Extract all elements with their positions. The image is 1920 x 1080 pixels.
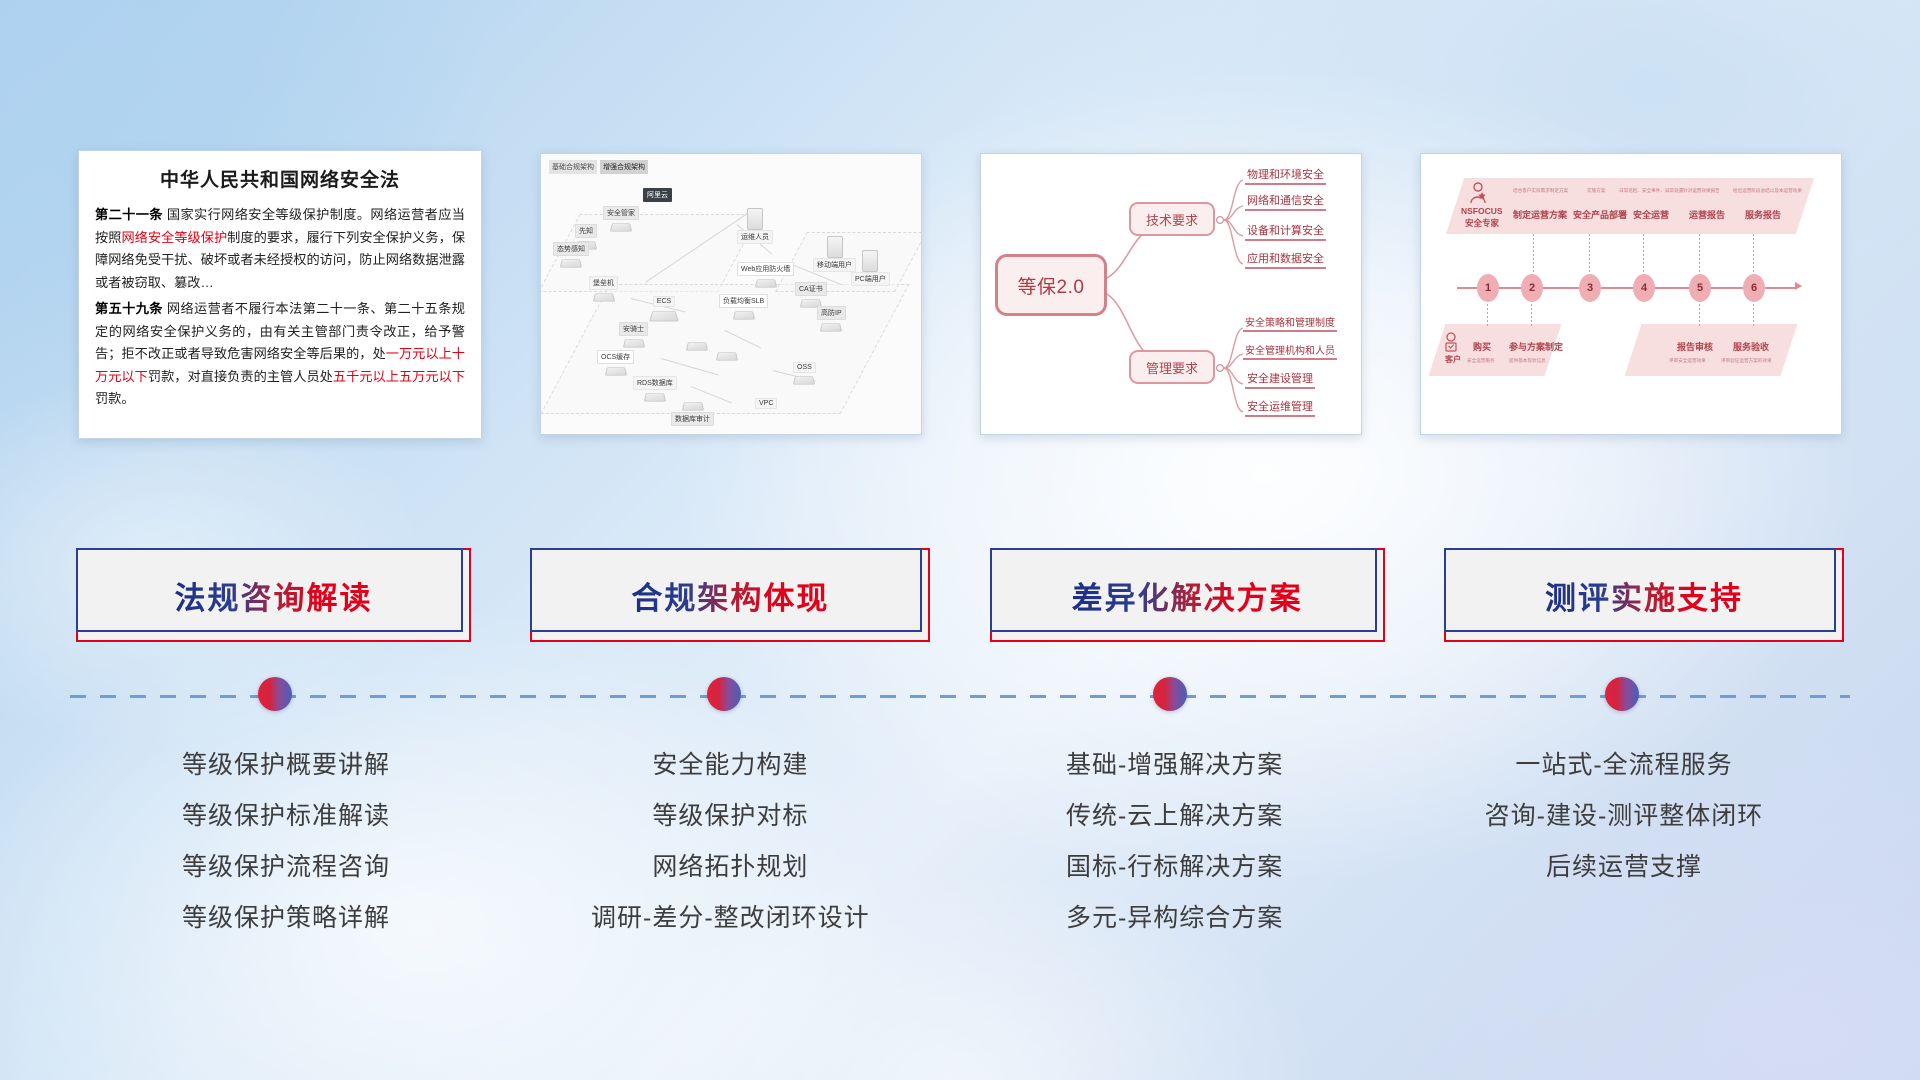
- arch-node-oss-label: OSS: [793, 362, 816, 373]
- process-node-5: 5: [1689, 274, 1711, 302]
- cube-icon: [592, 293, 614, 301]
- arch-node-shishiganzhi-label: 态势感知: [553, 242, 589, 256]
- detail-list-column-4: 一站式-全流程服务 咨询-建设-测评整体闭环 后续运营支撑: [1404, 740, 1844, 944]
- headline-label-4: 测评实施支持: [1545, 573, 1743, 618]
- list-item: 咨询-建设-测评整体闭环: [1404, 791, 1844, 842]
- arch-node-ecs-scaling-2: [717, 350, 737, 362]
- arch-node-rds: RDS数据库: [633, 376, 677, 403]
- process-tick-c4: [1753, 304, 1754, 328]
- process-customer-sub-4: 评审验证运营方案的效果: [1721, 358, 1772, 364]
- arch-node-cloud: 阿里云: [643, 188, 672, 203]
- list-item: 多元-异构综合方案: [965, 893, 1385, 944]
- process-tick-4: [1643, 234, 1644, 272]
- cube-icon: [649, 311, 679, 322]
- card-mindmap: 等保2.0 技术要求 管理要求 物理和环境安全 网络和通信安全 设备和计算安全 …: [980, 153, 1362, 435]
- detail-list-column-3: 基础-增强解决方案 传统-云上解决方案 国标-行标解决方案 多元-异构综合方案: [965, 740, 1385, 944]
- cube-icon: [681, 402, 703, 410]
- process-tick-2: [1533, 234, 1534, 272]
- arch-node-xianzhi-label: 先知: [575, 224, 597, 238]
- architecture-tabs: 基础合规架构 增强合规架构: [549, 160, 648, 174]
- list-item: 等级保护流程咨询: [76, 842, 496, 893]
- mindmap-leaf-tech-3: 设备和计算安全: [1245, 222, 1326, 241]
- arch-node-vpc-label: VPC: [755, 398, 777, 409]
- process-tick-5: [1699, 234, 1700, 272]
- process-customer-title-4: 服务验收: [1733, 340, 1769, 353]
- arch-node-ca: CA证书: [795, 282, 827, 309]
- headline-box-1[interactable]: 法规咨询解读: [76, 548, 471, 642]
- headline-row: 法规咨询解读 合规架构体现 差异化解决方案 测评实施支持: [76, 548, 1844, 644]
- timeline-dashed-line: [70, 695, 1850, 698]
- mindmap-branch-management: 管理要求: [1129, 350, 1215, 384]
- person-expert-icon: [1469, 182, 1487, 204]
- arch-node-waf: Web应用防火墙: [737, 262, 794, 289]
- process-tick-c3: [1699, 304, 1700, 328]
- card-process-timeline: NSFOCUS 安全专家 结合客户实际需求制定方案 制定运营方案 实施方案 安全…: [1420, 153, 1842, 435]
- infographic-page: 中华人民共和国网络安全法 第二十一条 国家实行网络安全等级保护制度。网络运营者应…: [0, 0, 1920, 1080]
- process-sub-5: 针对运营效果报告: [1683, 188, 1720, 194]
- law-content: 中华人民共和国网络安全法 第二十一条 国家实行网络安全等级保护制度。网络运营者应…: [79, 151, 481, 425]
- cube-icon: [604, 367, 626, 375]
- process-customer-title-1: 购买: [1473, 340, 1491, 353]
- timeline-dot-4[interactable]: [1605, 677, 1639, 711]
- process-tick-6: [1753, 234, 1754, 272]
- cube-icon: [754, 279, 776, 287]
- arch-node-anqishi: 安骑士: [619, 322, 648, 349]
- process-sub-2: 结合客户实际需求制定方案: [1513, 188, 1568, 194]
- server-icon: [862, 250, 878, 272]
- headline-label-3: 差异化解决方案: [1072, 573, 1303, 618]
- card-law-excerpt: 中华人民共和国网络安全法 第二十一条 国家实行网络安全等级保护制度。网络运营者应…: [78, 150, 482, 439]
- mindmap-root: 等保2.0: [995, 254, 1107, 316]
- process-tick-c2: [1531, 304, 1532, 328]
- detail-list-column-1: 等级保护概要讲解 等级保护标准解读 等级保护流程咨询 等级保护策略详解: [76, 740, 496, 944]
- cube-icon: [793, 376, 815, 384]
- list-item: 等级保护对标: [515, 791, 945, 842]
- arch-node-pc-user: PC端用户: [851, 250, 890, 287]
- arch-node-ops-user: 运维人员: [737, 208, 773, 245]
- arch-node-vpc: VPC: [755, 398, 777, 410]
- list-item: 一站式-全流程服务: [1404, 740, 1844, 791]
- list-item: 国标-行标解决方案: [965, 842, 1385, 893]
- arch-node-shishiganzhi: 态势感知: [553, 242, 589, 269]
- law-article-21: 第二十一条 国家实行网络安全等级保护制度。网络运营者应当按照网络安全等级保护制度…: [95, 204, 465, 294]
- process-title-4: 安全运营: [1633, 208, 1669, 221]
- list-item: 等级保护概要讲解: [76, 740, 496, 791]
- process-node-4: 4: [1633, 274, 1655, 302]
- mindmap-leaf-mgmt-3: 安全建设管理: [1245, 370, 1315, 389]
- mindmap-diagram: 等保2.0 技术要求 管理要求 物理和环境安全 网络和通信安全 设备和计算安全 …: [981, 154, 1361, 434]
- arch-node-ca-label: CA证书: [795, 282, 827, 296]
- cube-icon: [732, 311, 754, 319]
- list-item: 网络拓扑规划: [515, 842, 945, 893]
- law-article-21-label: 第二十一条: [95, 207, 163, 222]
- arch-node-ecs-scaling: [687, 340, 707, 352]
- process-node-2: 2: [1521, 274, 1543, 302]
- law-title: 中华人民共和国网络安全法: [95, 165, 465, 192]
- process-sub-4: 日常巡检、安全事件、异常处置: [1619, 188, 1683, 194]
- timeline-dot-1[interactable]: [258, 677, 292, 711]
- image-cards-row: 中华人民共和国网络安全法 第二十一条 国家实行网络安全等级保护制度。网络运营者应…: [78, 150, 1842, 440]
- list-item: 安全能力构建: [515, 740, 945, 791]
- arch-node-rds-label: RDS数据库: [633, 376, 677, 390]
- mindmap-leaf-mgmt-1: 安全策略和管理制度: [1243, 314, 1337, 332]
- law-article-59-s2: 罚款，对直接负责的主管人员处: [148, 369, 333, 384]
- arch-node-ocs: OCS缓存: [597, 350, 634, 377]
- law-article-59: 第五十九条 网络运营者不履行本法第二十一条、第二十五条规定的网络安全保护义务的，…: [95, 298, 465, 411]
- arch-node-oss: OSS: [793, 362, 816, 386]
- architecture-tab-enhanced[interactable]: 增强合规架构: [600, 160, 648, 174]
- arch-node-gaofangip-label: 高防IP: [817, 306, 846, 320]
- detail-list-column-2: 安全能力构建 等级保护对标 网络拓扑规划 调研-差分-整改闭环设计: [515, 740, 945, 944]
- process-title-3: 安全产品部署: [1573, 208, 1627, 221]
- arch-node-anqishi-label: 安骑士: [619, 322, 648, 336]
- arch-node-anquanguanjia-label: 安全管家: [603, 206, 639, 220]
- arch-node-pc-user-label: PC端用户: [851, 272, 890, 286]
- arch-node-dbaudit-label: 数据库审计: [671, 412, 714, 426]
- process-node-6: 6: [1743, 274, 1765, 302]
- process-customer-sub-2: 提供基本现状信息: [1509, 358, 1546, 364]
- cube-icon: [644, 393, 666, 401]
- arch-node-baoleiji-label: 堡垒机: [589, 276, 618, 290]
- process-node-3: 3: [1579, 274, 1601, 302]
- arrow-right-icon: [1795, 282, 1802, 290]
- arch-node-cloud-label: 阿里云: [643, 188, 672, 202]
- arch-node-slb: 负载均衡SLB: [719, 294, 768, 321]
- process-title-5: 运营报告: [1689, 208, 1725, 221]
- process-title-6: 服务报告: [1745, 208, 1781, 221]
- cube-icon: [610, 223, 632, 231]
- headline-box-3[interactable]: 差异化解决方案: [990, 548, 1385, 642]
- process-tick-c1: [1487, 304, 1488, 328]
- architecture-diagram: 基础合规架构 增强合规架构 阿里云: [541, 154, 921, 434]
- headline-label-2: 合规架构体现: [631, 573, 829, 618]
- arch-node-ecs-label: ECS: [653, 296, 675, 307]
- list-item: 等级保护标准解读: [76, 791, 496, 842]
- cube-icon: [622, 339, 644, 347]
- mindmap-leaf-tech-1: 物理和环境安全: [1245, 166, 1326, 185]
- arch-node-ocs-label: OCS缓存: [597, 350, 634, 364]
- arch-node-slb-label: 负载均衡SLB: [719, 294, 768, 308]
- process-provider-role: 安全专家: [1465, 217, 1499, 229]
- detail-lists-row: 等级保护概要讲解 等级保护标准解读 等级保护流程咨询 等级保护策略详解 安全能力…: [76, 740, 1844, 944]
- arch-node-ecs: ECS: [651, 296, 677, 323]
- arch-node-ops-user-label: 运维人员: [737, 230, 773, 244]
- process-sub-3: 实施方案: [1587, 188, 1605, 194]
- cube-icon: [560, 259, 582, 267]
- arch-node-anquanguanjia: 安全管家: [603, 206, 639, 233]
- cube-icon: [686, 342, 708, 350]
- process-customer-sub-3: 评审安全运营效果: [1669, 358, 1706, 364]
- process-customer-title-2: 参与方案制定: [1509, 340, 1563, 353]
- mindmap-branch-technical: 技术要求: [1129, 202, 1215, 236]
- list-item: 调研-差分-整改闭环设计: [515, 893, 945, 944]
- process-node-1: 1: [1477, 274, 1499, 302]
- headline-label-1: 法规咨询解读: [175, 573, 373, 618]
- cube-icon: [820, 323, 842, 331]
- process-provider-name: NSFOCUS: [1461, 206, 1503, 216]
- process-customer-sub-1: 安全运营服务: [1467, 358, 1495, 364]
- mindmap-leaf-tech-4: 应用和数据安全: [1245, 250, 1326, 269]
- process-diagram: NSFOCUS 安全专家 结合客户实际需求制定方案 制定运营方案 实施方案 安全…: [1421, 154, 1841, 434]
- person-customer-icon: [1443, 332, 1459, 352]
- arch-node-mobile-user: 移动端用户: [813, 236, 856, 273]
- arch-node-waf-label: Web应用防火墙: [737, 262, 794, 276]
- card-cloud-architecture: 基础合规架构 增强合规架构 阿里云: [540, 153, 922, 435]
- list-item: 基础-增强解决方案: [965, 740, 1385, 791]
- process-customer-role: 客户: [1445, 354, 1461, 365]
- headline-box-2[interactable]: 合规架构体现: [530, 548, 930, 642]
- process-tick-3: [1589, 234, 1590, 272]
- cube-icon: [716, 352, 738, 360]
- law-article-59-label: 第五十九条: [95, 301, 163, 316]
- arch-node-mobile-user-label: 移动端用户: [813, 258, 856, 272]
- server-icon: [827, 236, 843, 258]
- list-item: 等级保护策略详解: [76, 893, 496, 944]
- timeline-dot-3[interactable]: [1153, 677, 1187, 711]
- timeline: [70, 693, 1850, 699]
- mindmap-leaf-mgmt-2: 安全管理机构和人员: [1243, 342, 1337, 360]
- law-article-59-s4: 罚款。: [95, 391, 135, 406]
- mindmap-leaf-mgmt-4: 安全运维管理: [1245, 398, 1315, 417]
- list-item: 后续运营支撑: [1404, 842, 1844, 893]
- arch-node-gaofangip: 高防IP: [817, 306, 846, 333]
- arch-node-dbaudit: 数据库审计: [671, 400, 714, 427]
- law-article-59-s3: 五千元以上五万元以下: [333, 369, 465, 384]
- process-customer-title-3: 报告审核: [1677, 340, 1713, 353]
- server-icon: [747, 208, 763, 230]
- architecture-tab-basic[interactable]: 基础合规架构: [549, 160, 597, 174]
- law-article-21-s1: 网络安全等级保护: [121, 230, 227, 245]
- timeline-dot-2[interactable]: [707, 677, 741, 711]
- process-title-2: 制定运营方案: [1513, 208, 1567, 221]
- headline-box-4[interactable]: 测评实施支持: [1444, 548, 1844, 642]
- arch-node-baoleiji: 堡垒机: [589, 276, 618, 303]
- mindmap-leaf-tech-2: 网络和通信安全: [1245, 192, 1326, 211]
- list-item: 传统-云上解决方案: [965, 791, 1385, 842]
- process-sub-6: 给出运营阶段总结以及本运营效果: [1733, 188, 1802, 194]
